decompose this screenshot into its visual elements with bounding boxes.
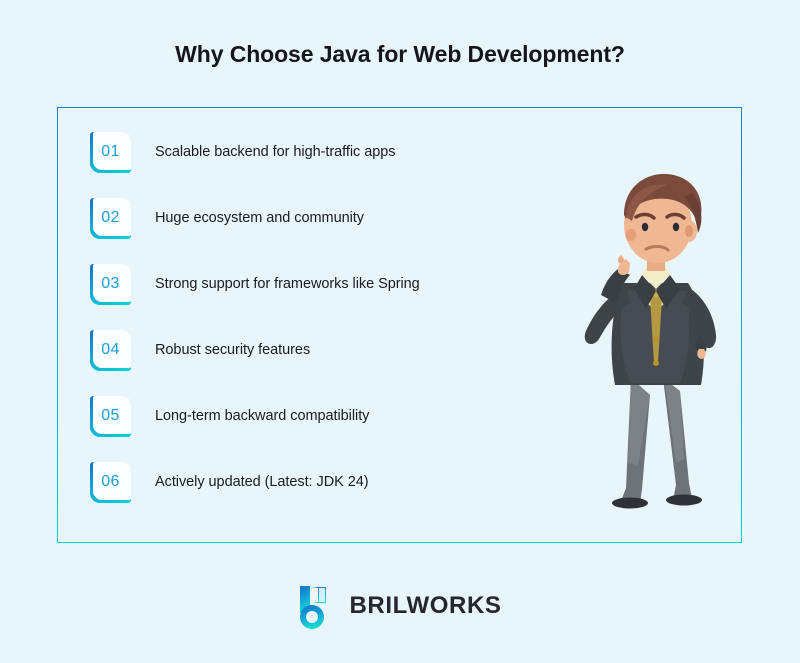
number-badge: 05 bbox=[90, 396, 131, 437]
infographic-canvas: Why Choose Java for Web Development? 01 … bbox=[0, 0, 800, 663]
number-badge-label: 03 bbox=[101, 275, 119, 293]
number-badge-label: 01 bbox=[101, 143, 119, 161]
list-item-label: Robust security features bbox=[155, 342, 310, 358]
number-badge: 04 bbox=[90, 330, 131, 371]
list-item: 04 Robust security features bbox=[90, 330, 420, 370]
list-item-label: Long-term backward compatibility bbox=[155, 408, 369, 424]
list-item: 06 Actively updated (Latest: JDK 24) bbox=[90, 462, 420, 502]
number-badge: 06 bbox=[90, 462, 131, 503]
benefit-list: 01 Scalable backend for high-traffic app… bbox=[90, 132, 420, 502]
list-item-label: Actively updated (Latest: JDK 24) bbox=[155, 474, 369, 490]
page-title: Why Choose Java for Web Development? bbox=[0, 41, 800, 68]
number-badge-label: 04 bbox=[101, 341, 119, 359]
content-panel-inner: 01 Scalable backend for high-traffic app… bbox=[58, 108, 741, 542]
brilworks-mark-icon bbox=[298, 583, 338, 629]
number-badge-label: 05 bbox=[101, 407, 119, 425]
list-item-label: Huge ecosystem and community bbox=[155, 210, 364, 226]
thinking-businessman-illustration bbox=[568, 163, 743, 523]
list-item: 03 Strong support for frameworks like Sp… bbox=[90, 264, 420, 304]
number-badge: 03 bbox=[90, 264, 131, 305]
list-item-label: Strong support for frameworks like Sprin… bbox=[155, 276, 420, 292]
number-badge: 01 bbox=[90, 132, 131, 173]
list-item: 05 Long-term backward compatibility bbox=[90, 396, 420, 436]
number-badge-label: 06 bbox=[101, 473, 119, 491]
list-item-label: Scalable backend for high-traffic apps bbox=[155, 144, 395, 160]
list-item: 01 Scalable backend for high-traffic app… bbox=[90, 132, 420, 172]
list-item: 02 Huge ecosystem and community bbox=[90, 198, 420, 238]
number-badge: 02 bbox=[90, 198, 131, 239]
content-panel: 01 Scalable backend for high-traffic app… bbox=[57, 107, 742, 543]
number-badge-label: 02 bbox=[101, 209, 119, 227]
brilworks-wordmark: BRILWORKS bbox=[349, 592, 501, 620]
brilworks-logo: BRILWORKS bbox=[0, 583, 800, 629]
